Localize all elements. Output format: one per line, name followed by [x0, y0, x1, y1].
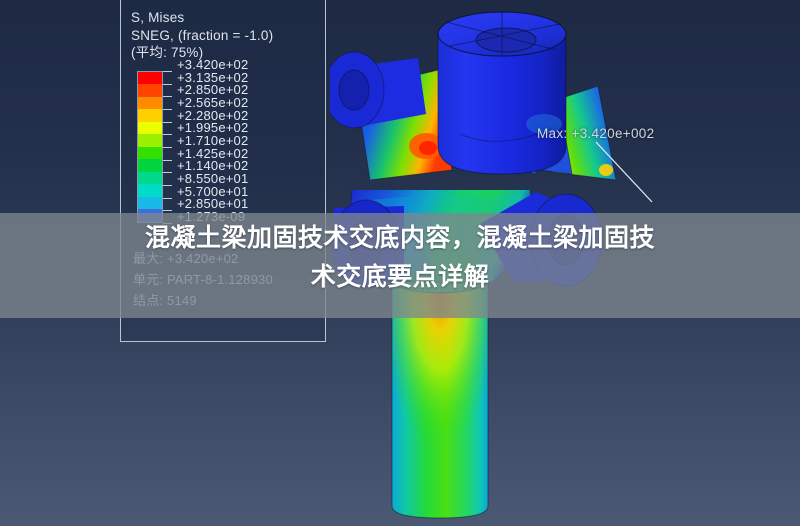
- fea-screenshot: Max: +3.420e+002 S, Mises SNEG, (fractio…: [0, 0, 800, 526]
- legend-tick-4: [163, 122, 172, 123]
- legend-colorbar[interactable]: +3.420e+02+3.135e+02+2.850e+02+2.565e+02…: [131, 69, 325, 237]
- legend-section-label: SNEG, (fraction = -1.0): [131, 27, 325, 45]
- legend-swatch-4: [138, 122, 162, 135]
- legend-swatch-1: [138, 84, 162, 97]
- legend-tick-9: [163, 185, 172, 186]
- legend-tick-5: [163, 134, 172, 135]
- legend-tick-10: [163, 198, 172, 199]
- legend-swatch-2: [138, 97, 162, 110]
- max-leader-line: [594, 140, 656, 206]
- legend-field-label: S, Mises: [131, 9, 325, 27]
- legend-value-3: +2.565e+02: [177, 96, 248, 109]
- legend-swatch-5: [138, 134, 162, 147]
- title-line-2: 术交底要点详解: [0, 258, 800, 297]
- legend-value-2: +2.850e+02: [177, 83, 248, 96]
- legend-swatch-10: [138, 197, 162, 210]
- legend-swatch-8: [138, 172, 162, 185]
- legend-swatch-3: [138, 109, 162, 122]
- legend-tick-11: [163, 210, 172, 211]
- legend-value-6: +1.710e+02: [177, 134, 248, 147]
- legend-swatch-7: [138, 159, 162, 172]
- legend-tick-8: [163, 172, 172, 173]
- legend-tick-0: [163, 71, 172, 72]
- max-value-annotation: Max: +3.420e+002: [537, 126, 654, 141]
- legend-value-9: +8.550e+01: [177, 172, 248, 185]
- legend-swatch-0: [138, 72, 162, 85]
- legend-value-8: +1.140e+02: [177, 159, 248, 172]
- legend-swatch-6: [138, 147, 162, 160]
- legend-tick-3: [163, 109, 172, 110]
- legend-tick-2: [163, 96, 172, 97]
- title-overlay: 混凝土梁加固技术交底内容，混凝土梁加固技 术交底要点详解: [0, 219, 800, 297]
- title-line-1: 混凝土梁加固技术交底内容，混凝土梁加固技: [0, 219, 800, 258]
- legend-tick-6: [163, 147, 172, 148]
- legend-swatch-9: [138, 184, 162, 197]
- legend-tick-1: [163, 84, 172, 85]
- legend-value-0: +3.420e+02: [177, 58, 248, 71]
- legend-tick-marks: [163, 69, 173, 225]
- hub-cylinder: [438, 12, 566, 174]
- branch-upper-left: [330, 52, 426, 128]
- legend-color-swatches: [137, 71, 163, 223]
- legend-value-11: +2.850e+01: [177, 197, 248, 210]
- legend-tick-7: [163, 160, 172, 161]
- legend-value-5: +1.995e+02: [177, 121, 248, 134]
